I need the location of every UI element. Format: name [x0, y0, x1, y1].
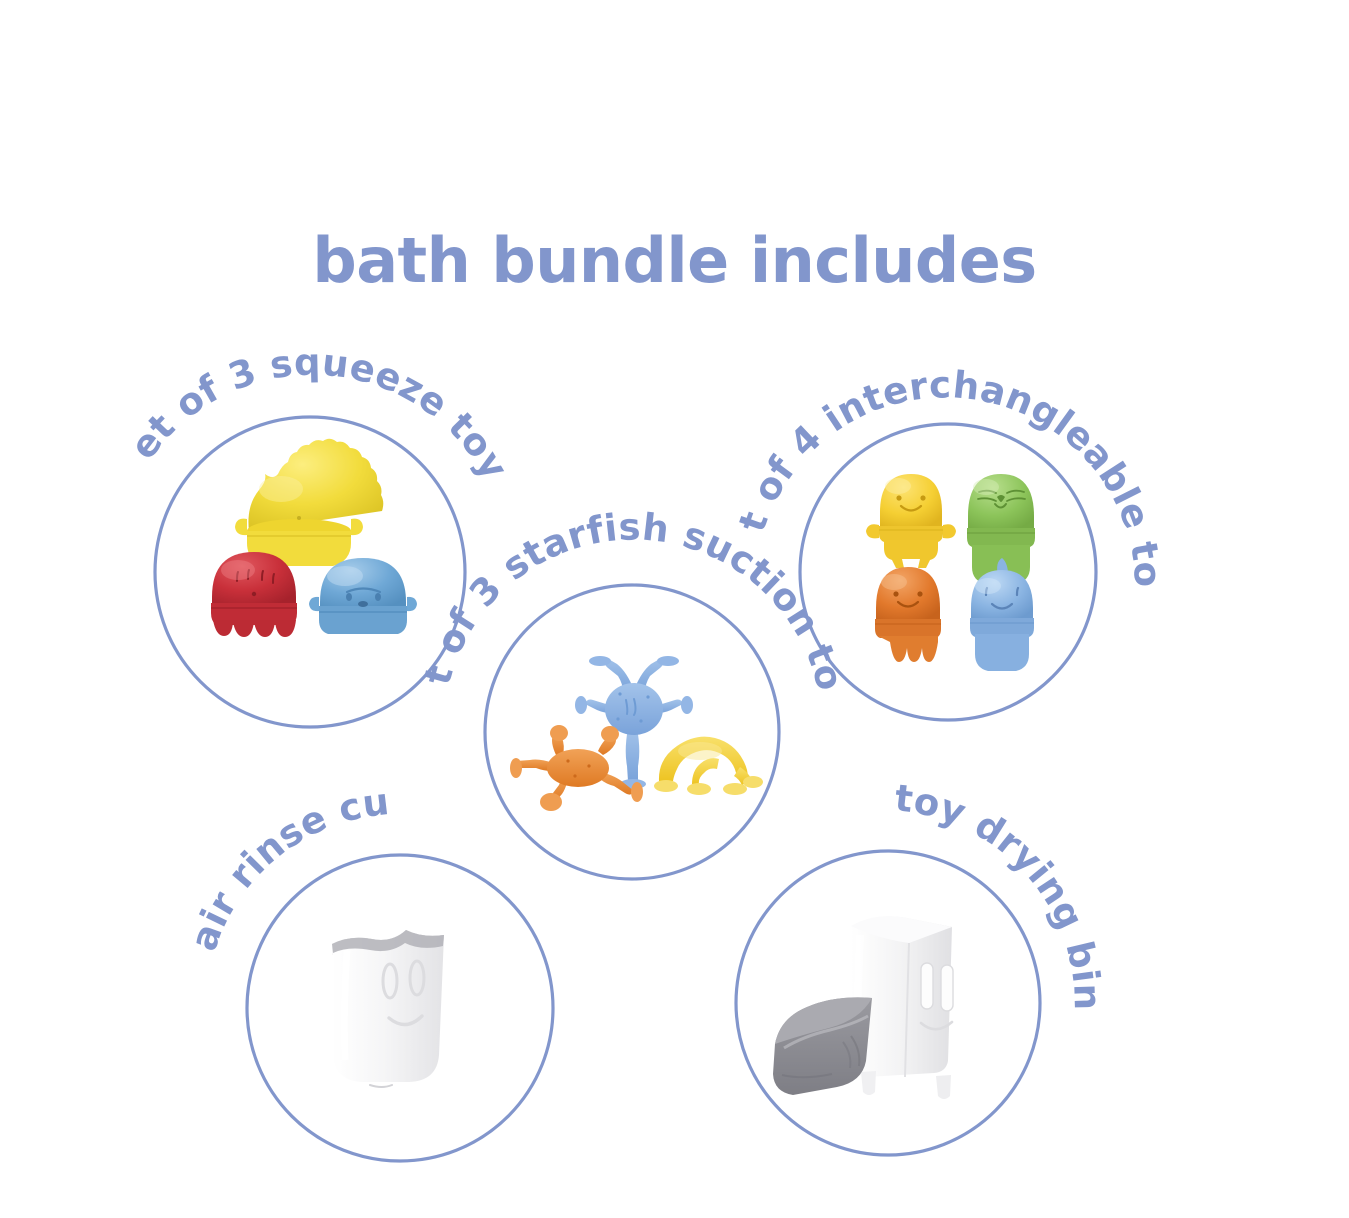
- badge-label-starfish-suction-toys: set of 3 starfish suction toys: [0, 0, 852, 695]
- orange-starfish-suction-toy: [510, 725, 643, 811]
- badge-interchangeable-toys[interactable]: set of 4 interchangleable toys: [0, 0, 1170, 720]
- badge-layer: set of 3 squeeze toys: [0, 0, 1349, 1218]
- badge-label-squeeze-toys: set of 3 squeeze toys: [0, 0, 517, 487]
- orange-octopus-toy: [875, 567, 941, 662]
- yellow-starfish-suction-toy: [654, 737, 763, 795]
- badge-squeeze-toys[interactable]: set of 3 squeeze toys: [0, 0, 517, 727]
- whale-squeeze-toy: [309, 558, 417, 634]
- pufferfish-squeeze-toy: [235, 439, 383, 566]
- hair-rinse-cup-product: [332, 930, 444, 1087]
- drying-bin-tray: [773, 997, 872, 1095]
- yellow-frog-toy: [866, 474, 956, 568]
- badge-toy-drying-bin[interactable]: toy drying bin: [736, 776, 1109, 1155]
- octopus-squeeze-toy: [211, 552, 297, 637]
- infographic-stage: bath bundle includes: [0, 0, 1349, 1218]
